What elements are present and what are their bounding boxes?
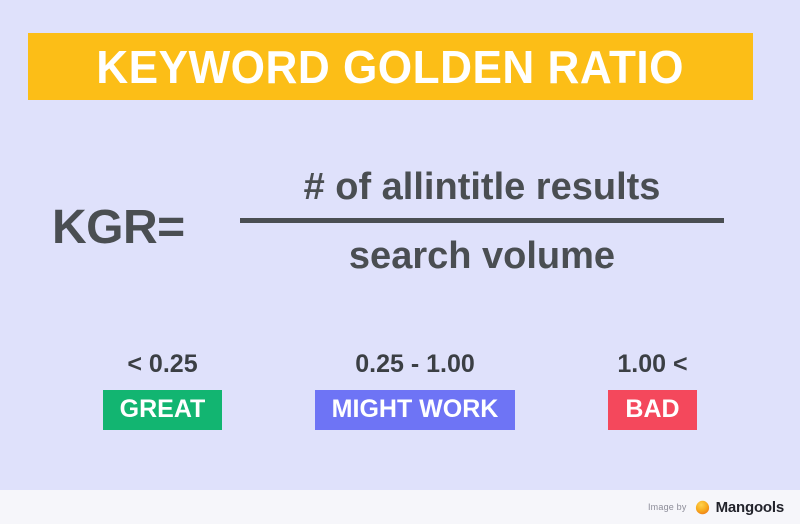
legend-item-might-work: 0.25 - 1.00 MIGHT WORK bbox=[285, 352, 545, 430]
image-credit-label: Image by bbox=[648, 502, 687, 512]
status-badge-bad: BAD bbox=[608, 390, 696, 430]
brand-logo: Mangools bbox=[695, 500, 784, 515]
infographic-canvas: KEYWORD GOLDEN RATIO KGR= # of allintitl… bbox=[0, 0, 800, 524]
status-badge-great: GREAT bbox=[103, 390, 223, 430]
legend-item-great: < 0.25 GREAT bbox=[60, 352, 265, 430]
page-title: KEYWORD GOLDEN RATIO bbox=[97, 44, 685, 90]
legend-item-bad: 1.00 < BAD bbox=[565, 352, 740, 430]
formula-label: KGR= bbox=[52, 204, 185, 252]
footer-bar: Image by Mangools bbox=[0, 490, 800, 524]
legend-row: < 0.25 GREAT 0.25 - 1.00 MIGHT WORK 1.00… bbox=[60, 352, 740, 430]
legend-range-great: < 0.25 bbox=[127, 352, 197, 377]
kgr-formula: KGR= # of allintitle results search volu… bbox=[0, 168, 800, 308]
mango-icon bbox=[695, 500, 710, 515]
legend-range-bad: 1.00 < bbox=[617, 352, 687, 377]
brand-name: Mangools bbox=[716, 500, 784, 515]
legend-range-might-work: 0.25 - 1.00 bbox=[355, 352, 475, 377]
formula-fraction: # of allintitle results search volume bbox=[240, 168, 724, 275]
formula-denominator: search volume bbox=[240, 223, 724, 275]
title-banner: KEYWORD GOLDEN RATIO bbox=[28, 33, 753, 100]
formula-numerator: # of allintitle results bbox=[240, 168, 724, 218]
status-badge-might-work: MIGHT WORK bbox=[315, 390, 516, 430]
